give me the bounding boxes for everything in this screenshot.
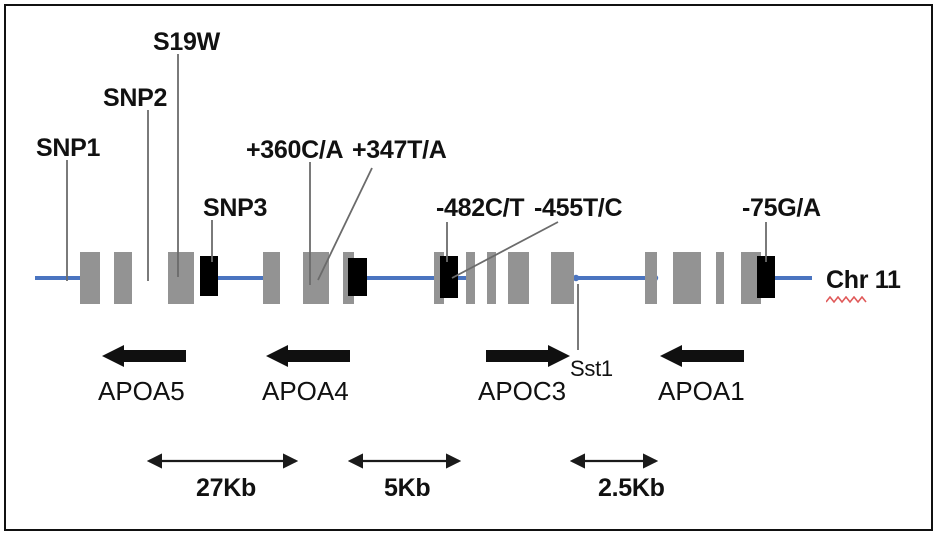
- snp-label-m455tc: -455T/C: [534, 196, 622, 221]
- exon-box: [673, 252, 701, 304]
- gene-label-apoa1: APOA1: [658, 378, 745, 404]
- label-leader-lines: [67, 54, 766, 285]
- snp-marker-box: [757, 256, 775, 298]
- exon-box: [80, 252, 100, 304]
- snp-label-snp1: SNP1: [36, 136, 100, 161]
- gene-cluster-diagram: [0, 0, 945, 542]
- snp-label-m75ga: -75G/A: [742, 196, 821, 221]
- chromosome-label: Chr 11: [826, 268, 901, 293]
- gene-label-apoa5: APOA5: [98, 378, 185, 404]
- exon-box: [645, 252, 657, 304]
- exon-box: [551, 252, 574, 304]
- gene-arrow-apoc3: [486, 345, 570, 367]
- snp-label-s19w: S19W: [153, 30, 220, 55]
- exon-box: [303, 252, 329, 304]
- scale-label-scale-5kb: 5Kb: [384, 476, 430, 501]
- gene-arrow-apoa5: [102, 345, 186, 367]
- exon-box: [466, 252, 475, 304]
- exon-box: [716, 252, 724, 304]
- spellcheck-squiggle-icon: [826, 296, 872, 304]
- figure-canvas: SNP1SNP2S19WSNP3+360C/A+347T/A-482C/T-45…: [0, 0, 945, 542]
- snp-label-snp2: SNP2: [103, 86, 167, 111]
- exon-box: [263, 252, 280, 304]
- gene-arrow-apoa4: [266, 345, 350, 367]
- scale-label-scale-27kb: 27Kb: [196, 476, 256, 501]
- scale-label-scale-2.5kb: 2.5Kb: [598, 476, 665, 501]
- chromosome-label-wrap: Chr 11: [826, 268, 901, 293]
- exon-box: [168, 252, 194, 304]
- snp-marker-box: [348, 258, 367, 296]
- gene-direction-arrows: [102, 345, 744, 367]
- exon-box: [508, 252, 529, 304]
- snp-marker-box: [200, 256, 218, 296]
- gene-arrow-apoa1: [660, 345, 744, 367]
- snp-label-m482ct: -482C/T: [436, 196, 524, 221]
- exon-box: [114, 252, 132, 304]
- sst1-label: Sst1: [570, 358, 613, 380]
- snp-label-p347ta: +347T/A: [352, 138, 446, 163]
- gene-label-apoc3: APOC3: [478, 378, 566, 404]
- gene-label-apoa4: APOA4: [262, 378, 349, 404]
- snp-label-p360ca: +360C/A: [246, 138, 343, 163]
- leader-line-m455tc: [452, 222, 558, 278]
- snp-label-snp3: SNP3: [203, 196, 267, 221]
